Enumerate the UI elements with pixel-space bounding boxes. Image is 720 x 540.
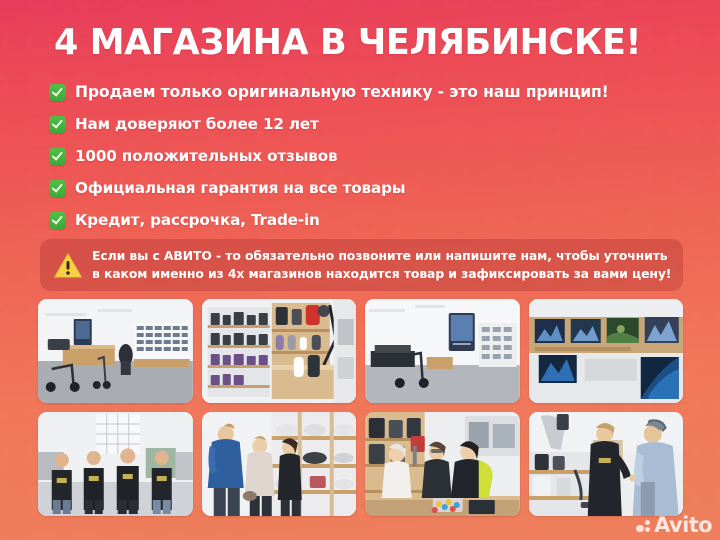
pattern-rounded-square <box>26 532 55 540</box>
pattern-rounded-square <box>716 256 720 285</box>
pattern-rounded-square <box>440 0 469 9</box>
pattern-rounded-square <box>0 256 9 285</box>
photo-row-top <box>38 299 683 403</box>
pattern-rounded-square <box>716 486 720 515</box>
photo-store-interior-counter-scooter[interactable] <box>38 299 193 403</box>
photo-customers-browsing-shelves[interactable] <box>202 412 357 516</box>
avito-dots-logo-icon <box>636 518 651 534</box>
list-item-label: Официальная гарантия на все товары <box>75 179 405 197</box>
photo-customers-at-counter[interactable] <box>365 412 520 516</box>
photo-gallery <box>38 299 683 516</box>
notice-line-1: Если вы с АВИТО - то обязательно позвони… <box>92 248 668 263</box>
pattern-rounded-square <box>348 0 377 9</box>
pattern-rounded-square <box>164 0 193 9</box>
pattern-rounded-square <box>0 26 9 55</box>
pattern-rounded-square <box>394 532 423 540</box>
photo-row-bottom <box>38 412 683 516</box>
pattern-rounded-square <box>0 532 9 540</box>
list-item: Официальная гарантия на все товары <box>49 172 689 204</box>
pattern-rounded-square <box>716 26 720 55</box>
pattern-rounded-square <box>0 348 9 377</box>
pattern-rounded-square <box>670 0 699 9</box>
check-badge-icon <box>49 180 66 197</box>
list-item: Нам доверяют более 12 лет <box>49 108 689 140</box>
pattern-rounded-square <box>210 0 239 9</box>
pattern-rounded-square <box>0 164 9 193</box>
photo-staff-assisting-customer[interactable] <box>529 412 684 516</box>
pattern-rounded-square <box>532 532 561 540</box>
pattern-rounded-square <box>118 0 147 9</box>
pattern-rounded-square <box>210 532 239 540</box>
list-item-label: 1000 положительных отзывов <box>75 147 338 165</box>
pattern-rounded-square <box>440 532 469 540</box>
benefits-list: Продаем только оригинальную технику - эт… <box>49 76 689 236</box>
warning-triangle-icon <box>53 252 83 279</box>
pattern-rounded-square <box>72 532 101 540</box>
pattern-rounded-square <box>256 532 285 540</box>
header: 4 МАГАЗИНА В ЧЕЛЯБИНСКЕ! <box>54 24 684 62</box>
pattern-rounded-square <box>716 118 720 147</box>
pattern-rounded-square <box>0 0 9 9</box>
pattern-rounded-square <box>532 0 561 9</box>
check-badge-icon <box>49 212 66 229</box>
pattern-rounded-square <box>256 0 285 9</box>
photo-store-shelves-appliances[interactable] <box>202 299 357 403</box>
notice-banner: Если вы с АВИТО - то обязательно позвони… <box>40 239 683 291</box>
pattern-rounded-square <box>394 0 423 9</box>
pattern-rounded-square <box>0 394 9 423</box>
check-badge-icon <box>49 84 66 101</box>
pattern-rounded-square <box>164 532 193 540</box>
pattern-rounded-square <box>716 164 720 193</box>
pattern-rounded-square <box>716 440 720 469</box>
pattern-rounded-square <box>118 532 147 540</box>
list-item-label: Продаем только оригинальную технику - эт… <box>75 83 609 101</box>
pattern-rounded-square <box>716 0 720 9</box>
pattern-rounded-square <box>0 486 9 515</box>
pattern-rounded-square <box>0 440 9 469</box>
pattern-rounded-square <box>716 394 720 423</box>
list-item-label: Кредит, рассрочка, Trade-in <box>75 211 320 229</box>
page-title: 4 МАГАЗИНА В ЧЕЛЯБИНСКЕ! <box>54 24 675 62</box>
pattern-rounded-square <box>486 0 515 9</box>
pattern-rounded-square <box>716 532 720 540</box>
pattern-rounded-square <box>624 0 653 9</box>
pattern-rounded-square <box>302 532 331 540</box>
pattern-rounded-square <box>716 72 720 101</box>
pattern-rounded-square <box>26 26 55 55</box>
pattern-rounded-square <box>716 348 720 377</box>
pattern-rounded-square <box>486 532 515 540</box>
pattern-rounded-square <box>72 0 101 9</box>
pattern-rounded-square <box>716 302 720 331</box>
pattern-rounded-square <box>0 72 9 101</box>
pattern-rounded-square <box>578 532 607 540</box>
pattern-rounded-square <box>0 118 9 147</box>
pattern-rounded-square <box>578 0 607 9</box>
list-item: Кредит, рассрочка, Trade-in <box>49 204 689 236</box>
notice-text: Если вы с АВИТО - то обязательно позвони… <box>92 247 671 283</box>
pattern-rounded-square <box>348 532 377 540</box>
photo-staff-team-group[interactable] <box>38 412 193 516</box>
pattern-rounded-square <box>26 0 55 9</box>
notice-line-2: в каком именно из 4х магазинов находится… <box>92 266 671 281</box>
list-item-label: Нам доверяют более 12 лет <box>75 115 319 133</box>
pattern-rounded-square <box>302 0 331 9</box>
promo-banner: 4 МАГАЗИНА В ЧЕЛЯБИНСКЕ! Продаем только … <box>0 0 720 540</box>
check-badge-icon <box>49 116 66 133</box>
pattern-rounded-square <box>0 210 9 239</box>
pattern-rounded-square <box>716 210 720 239</box>
list-item: Продаем только оригинальную технику - эт… <box>49 76 689 108</box>
avito-watermark: Avito <box>636 515 712 536</box>
photo-store-tv-wall-display[interactable] <box>529 299 684 403</box>
list-item: 1000 положительных отзывов <box>49 140 689 172</box>
check-badge-icon <box>49 148 66 165</box>
pattern-rounded-square <box>0 302 9 331</box>
photo-store-showroom-scooter[interactable] <box>365 299 520 403</box>
avito-label: Avito <box>654 515 712 536</box>
